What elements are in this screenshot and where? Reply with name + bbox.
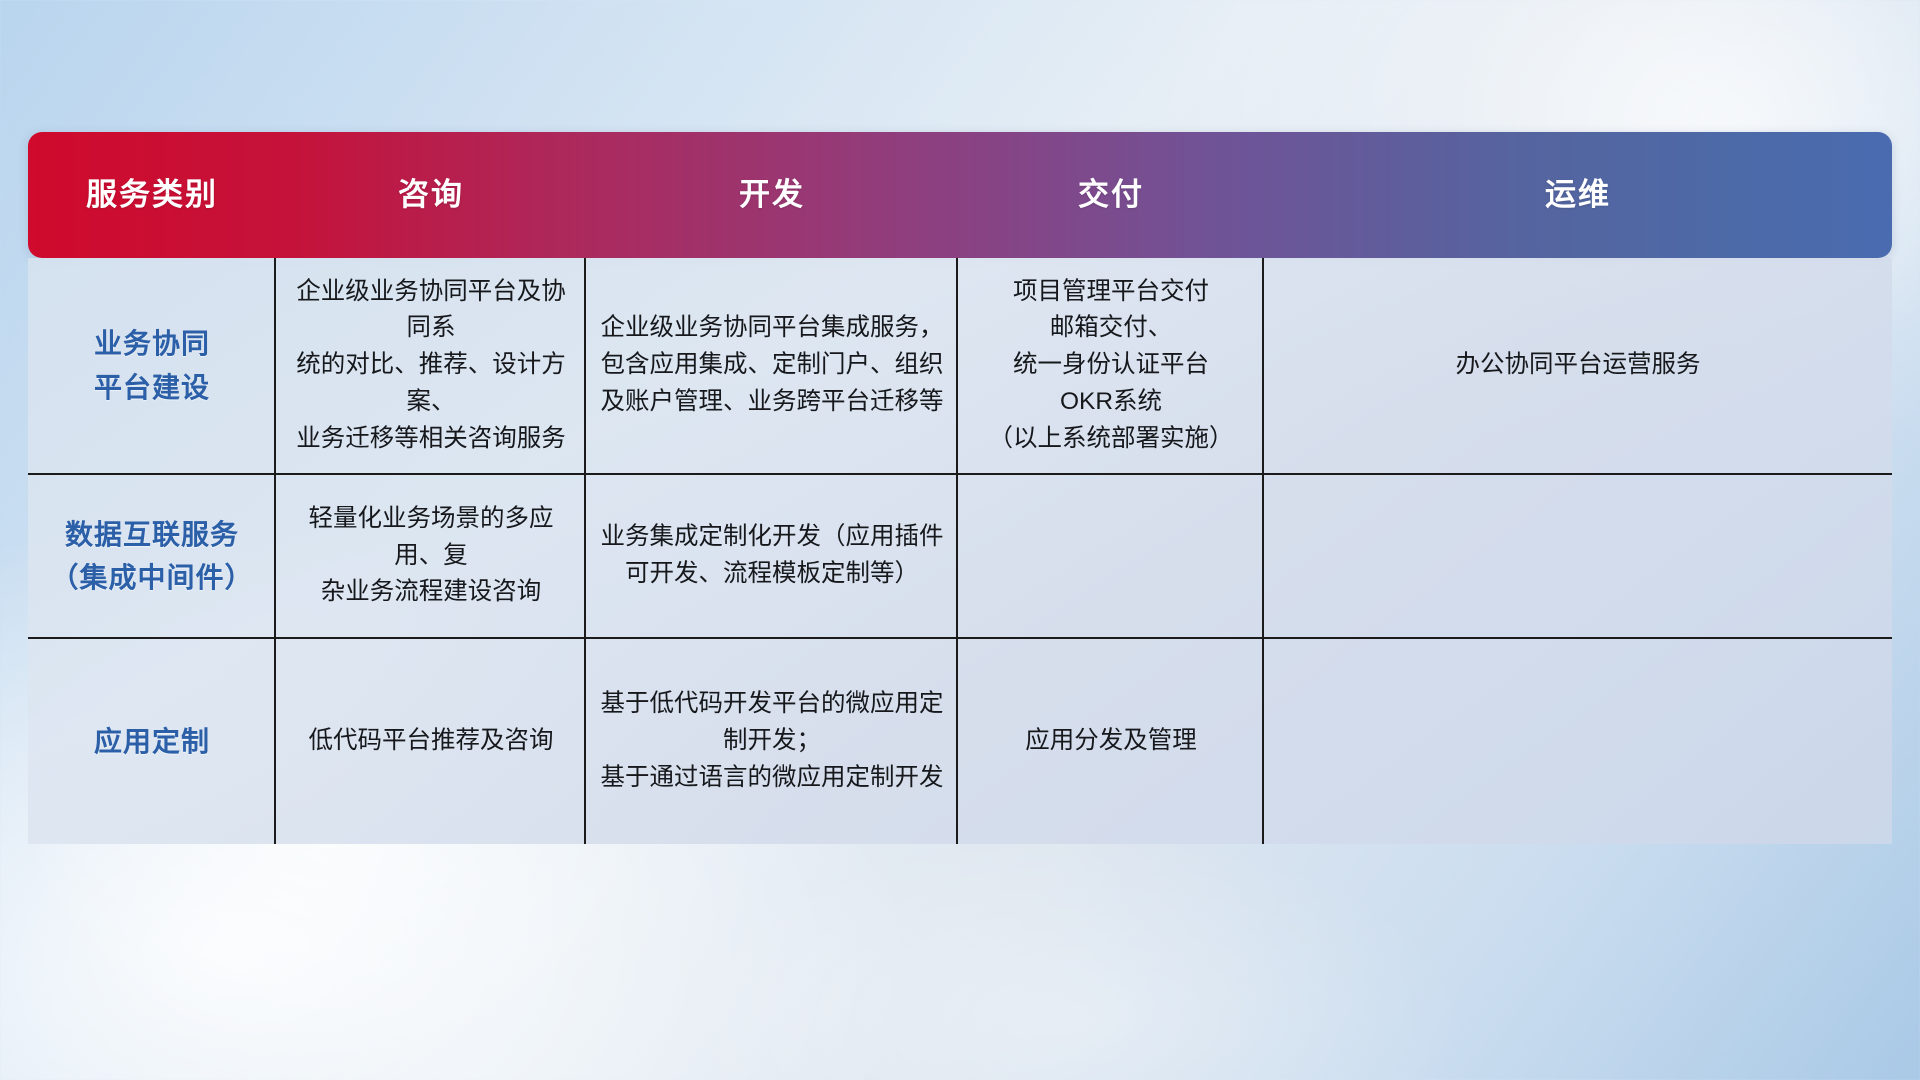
column-header-service-category: 服务类别 (28, 132, 276, 258)
cell-consulting: 企业级业务协同平台及协同系 统的对比、推荐、设计方案、 业务迁移等相关咨询服务 (276, 258, 586, 473)
table-row: 业务协同 平台建设 企业级业务协同平台及协同系 统的对比、推荐、设计方案、 业务… (28, 258, 1892, 473)
table-header-row: 服务类别 咨询 开发 交付 运维 (28, 132, 1892, 258)
cell-delivery (958, 475, 1264, 637)
cell-text: 办公协同平台运营服务 (1456, 347, 1701, 384)
cell-consulting: 轻量化业务场景的多应用、复 杂业务流程建设咨询 (276, 475, 586, 637)
row-category-cell: 应用定制 (28, 639, 276, 844)
table-row: 数据互联服务 （集成中间件） 轻量化业务场景的多应用、复 杂业务流程建设咨询 业… (28, 473, 1892, 637)
slide-canvas: 服务类别 咨询 开发 交付 运维 业务协同 平台建设 企业级业务协同平台及协同系… (0, 0, 1920, 1080)
cell-development: 业务集成定制化开发（应用插件 可开发、流程模板定制等） (586, 475, 958, 637)
cell-operations: 办公协同平台运营服务 (1264, 258, 1892, 473)
cell-delivery: 应用分发及管理 (958, 639, 1264, 844)
cell-operations (1264, 475, 1892, 637)
service-matrix-table: 服务类别 咨询 开发 交付 运维 业务协同 平台建设 企业级业务协同平台及协同系… (28, 132, 1892, 844)
cell-text: 基于低代码开发平台的微应用定 制开发； 基于通过语言的微应用定制开发 (601, 686, 944, 796)
column-header-consulting: 咨询 (276, 132, 586, 258)
column-header-operations: 运维 (1264, 132, 1892, 258)
row-category-cell: 数据互联服务 （集成中间件） (28, 475, 276, 637)
cell-development: 基于低代码开发平台的微应用定 制开发； 基于通过语言的微应用定制开发 (586, 639, 958, 844)
cell-text: 企业级业务协同平台及协同系 统的对比、推荐、设计方案、 业务迁移等相关咨询服务 (290, 274, 572, 458)
column-header-development: 开发 (586, 132, 958, 258)
cell-development: 企业级业务协同平台集成服务， 包含应用集成、定制门户、组织 及账户管理、业务跨平… (586, 258, 958, 473)
row-category-cell: 业务协同 平台建设 (28, 258, 276, 473)
column-header-delivery: 交付 (958, 132, 1264, 258)
cell-text: 轻量化业务场景的多应用、复 杂业务流程建设咨询 (290, 501, 572, 611)
cell-delivery: 项目管理平台交付 邮箱交付、 统一身份认证平台 OKR系统 （以上系统部署实施） (958, 258, 1264, 473)
cell-operations (1264, 639, 1892, 844)
cell-consulting: 低代码平台推荐及咨询 (276, 639, 586, 844)
table-body: 业务协同 平台建设 企业级业务协同平台及协同系 统的对比、推荐、设计方案、 业务… (28, 258, 1892, 844)
category-label: 数据互联服务 （集成中间件） (50, 513, 253, 600)
category-label: 应用定制 (94, 720, 210, 763)
cell-text: 应用分发及管理 (1025, 723, 1197, 760)
cell-text: 企业级业务协同平台集成服务， 包含应用集成、定制门户、组织 及账户管理、业务跨平… (601, 310, 944, 420)
table-row: 应用定制 低代码平台推荐及咨询 基于低代码开发平台的微应用定 制开发； 基于通过… (28, 637, 1892, 844)
cell-text: 项目管理平台交付 邮箱交付、 统一身份认证平台 OKR系统 （以上系统部署实施） (989, 274, 1234, 458)
cell-text: 业务集成定制化开发（应用插件 可开发、流程模板定制等） (601, 519, 944, 593)
cell-text: 低代码平台推荐及咨询 (309, 723, 554, 760)
category-label: 业务协同 平台建设 (94, 322, 210, 409)
